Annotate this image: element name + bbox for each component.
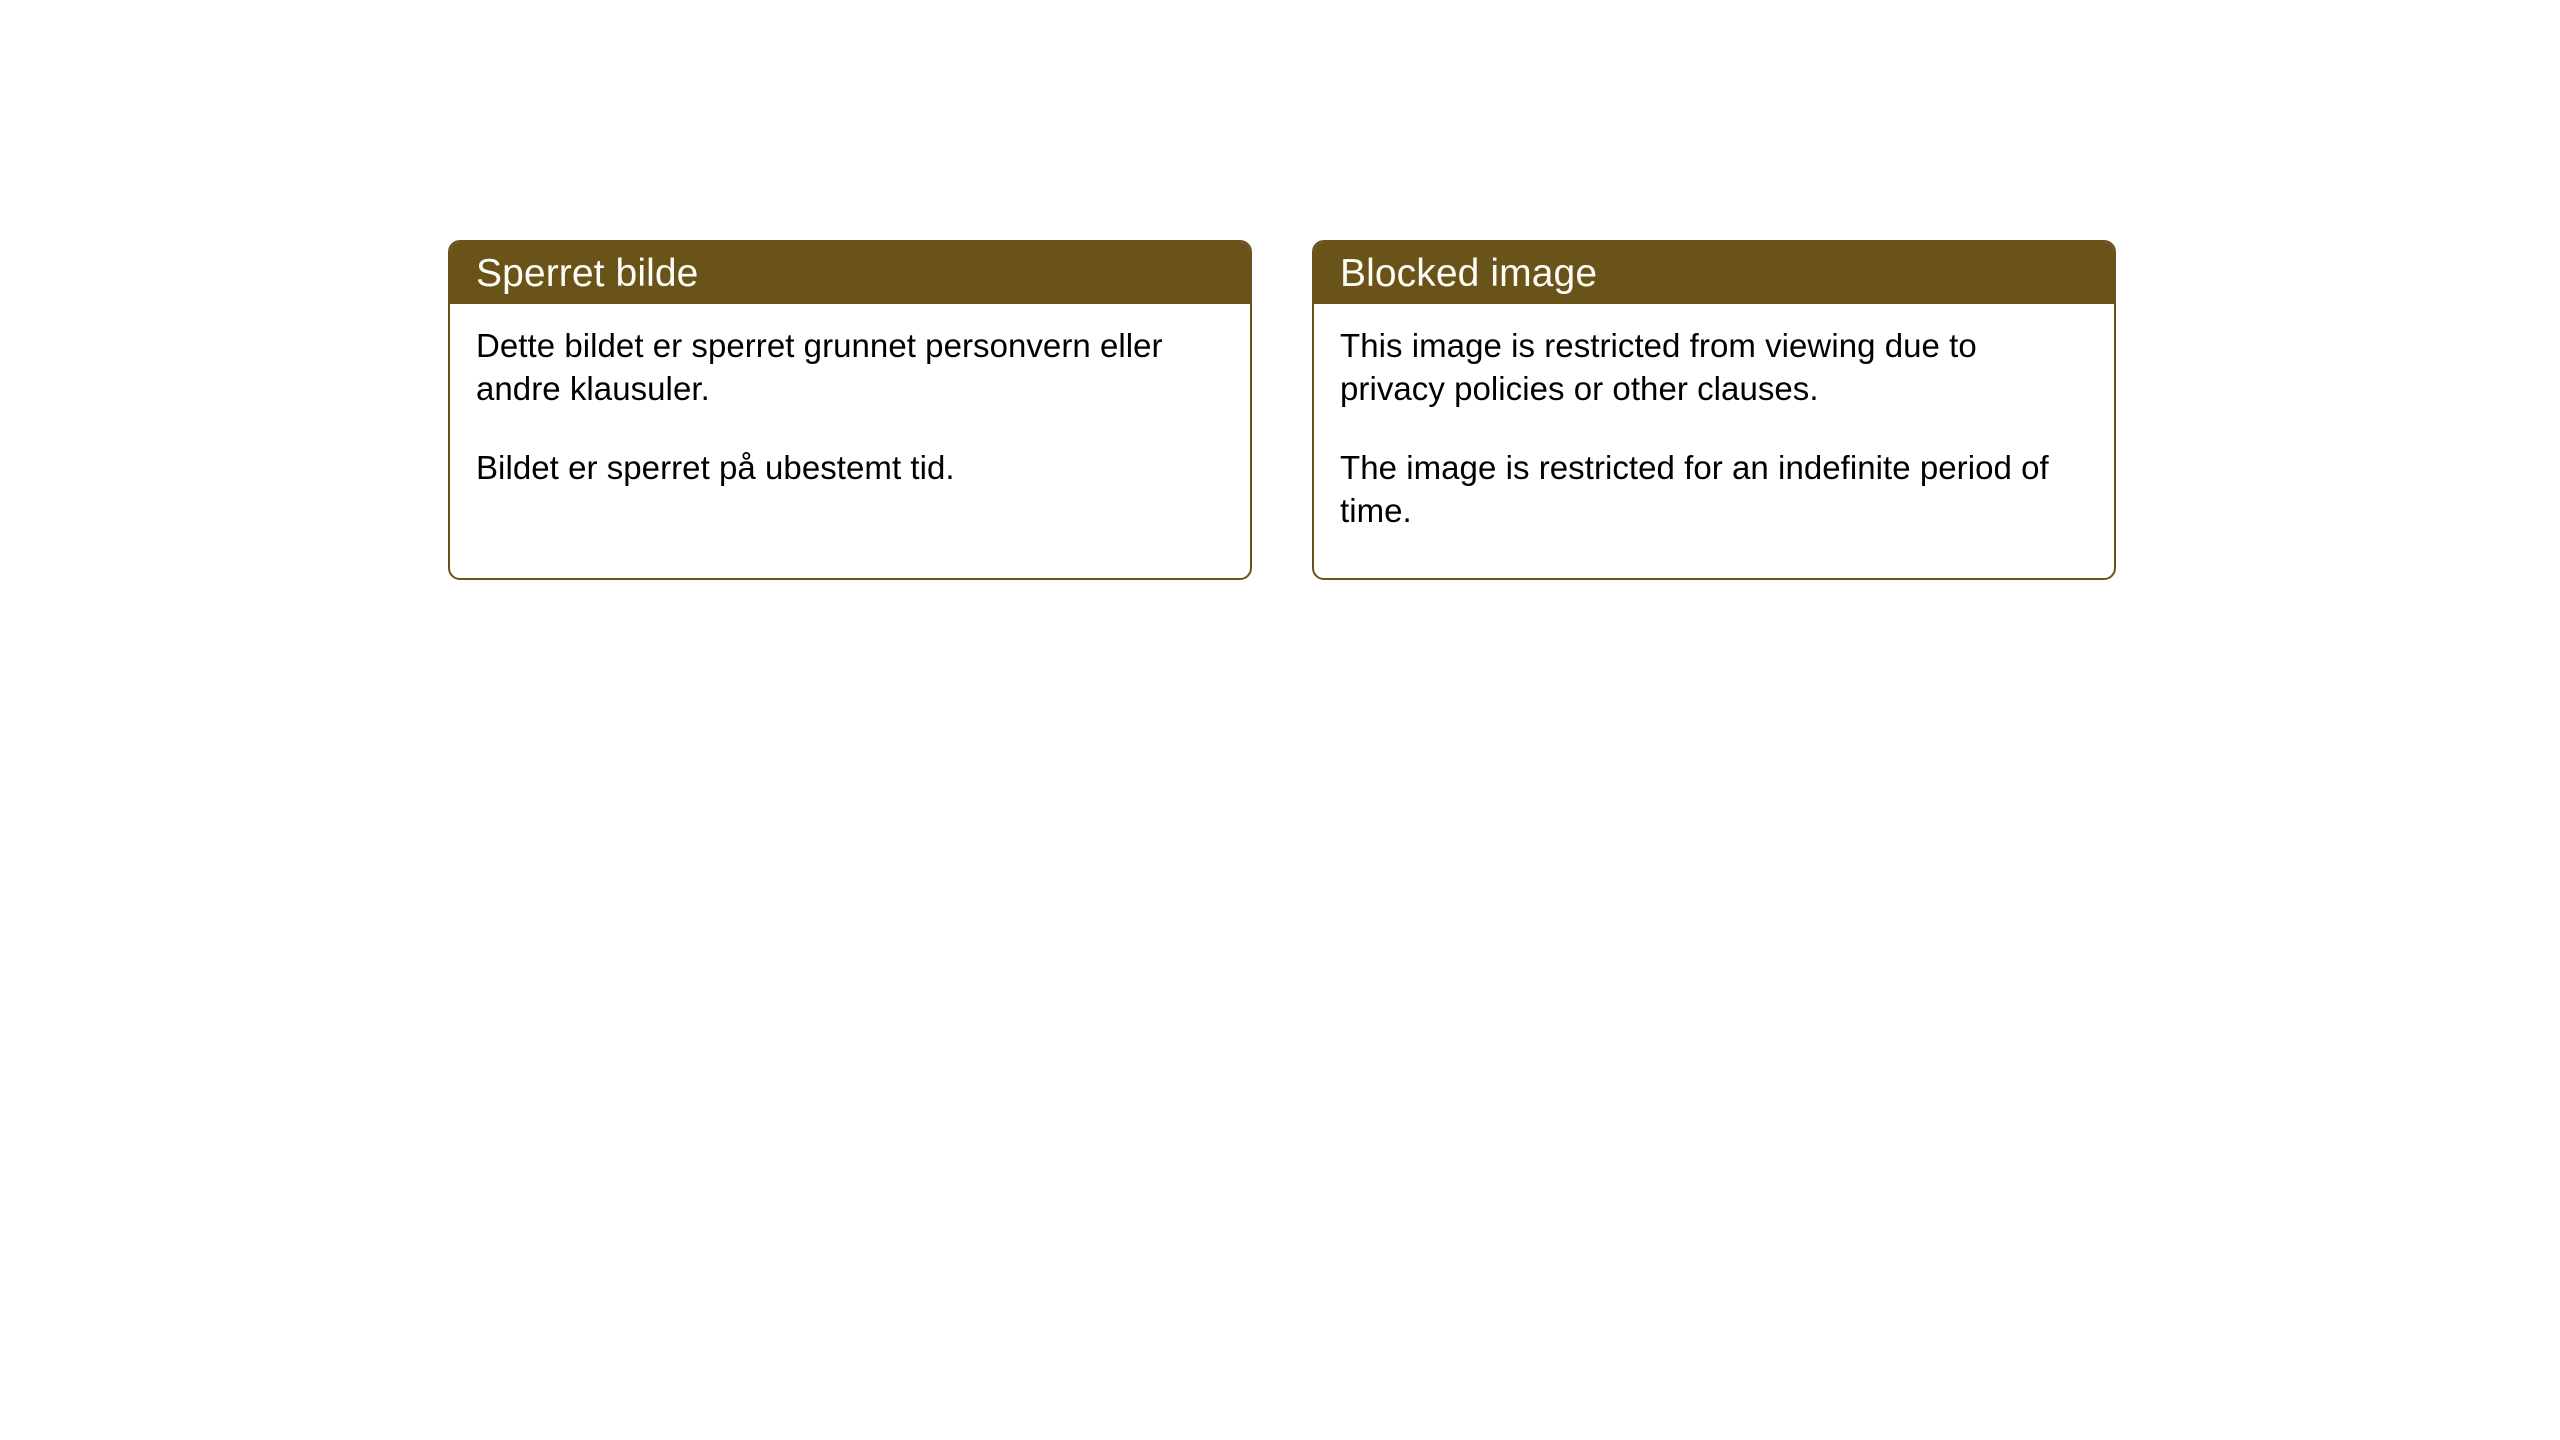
card-header: Blocked image <box>1314 242 2114 304</box>
card-title: Sperret bilde <box>476 254 698 293</box>
blocked-image-notice-card-english: Blocked image This image is restricted f… <box>1312 240 2116 580</box>
page-canvas: Sperret bilde Dette bildet er sperret gr… <box>0 0 2560 1440</box>
card-paragraph-primary: Dette bildet er sperret grunnet personve… <box>476 324 1224 410</box>
blocked-image-notice-card-norwegian: Sperret bilde Dette bildet er sperret gr… <box>448 240 1252 580</box>
card-paragraph-primary: This image is restricted from viewing du… <box>1340 324 2088 410</box>
card-header: Sperret bilde <box>450 242 1250 304</box>
card-paragraph-secondary: Bildet er sperret på ubestemt tid. <box>476 446 1224 489</box>
card-paragraph-secondary: The image is restricted for an indefinit… <box>1340 446 2088 532</box>
card-title: Blocked image <box>1340 254 1597 293</box>
card-body: This image is restricted from viewing du… <box>1314 304 2114 532</box>
card-body: Dette bildet er sperret grunnet personve… <box>450 304 1250 489</box>
